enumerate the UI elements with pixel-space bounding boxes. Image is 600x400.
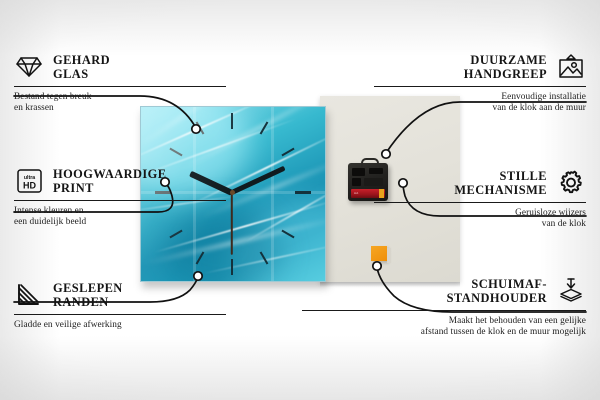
feature-title-line2: RANDEN: [53, 295, 109, 309]
foam-spacer: [371, 246, 387, 261]
feature-hoogwaardige-print[interactable]: ultra HD HOOGWAARDIGEPRINT Intense kleur…: [14, 166, 226, 229]
feature-gehard-glas[interactable]: GEHARDGLAS Bestand tegen breuk en krasse…: [14, 52, 226, 115]
feature-title-line1: GEHARD: [53, 53, 110, 67]
feature-title-line2: GLAS: [53, 67, 89, 81]
ultra-hd-icon: ultra HD: [14, 166, 44, 196]
feature-title-line1: STILLE: [500, 169, 547, 183]
feature-title-line1: HOOGWAARDIGE: [53, 167, 166, 181]
infographic-canvas: AA: [0, 0, 600, 400]
mechanism-detail: [352, 178, 361, 186]
diamond-icon: [14, 52, 44, 82]
clock-tick: [231, 113, 233, 129]
feature-stille-mechanisme[interactable]: STILLEMECHANISME Geruisloze wijzers van …: [374, 168, 586, 231]
feature-desc-line1: Geruisloze wijzers: [515, 208, 586, 218]
feature-desc-line1: Gladde en veilige afwerking: [14, 320, 122, 330]
feature-desc-line2: en krassen: [14, 103, 54, 113]
feature-desc-line2: afstand tussen de klok en de muur mogeli…: [421, 327, 586, 337]
foam-spacer-icon: [556, 276, 586, 306]
feature-desc-line2: van de klok aan de muur: [493, 103, 587, 113]
feature-title-line1: DUURZAME: [470, 53, 547, 67]
svg-text:HD: HD: [23, 181, 36, 191]
clock-second-hand: [231, 193, 233, 255]
clock-tick: [231, 259, 233, 275]
beveled-edges-icon: [14, 280, 44, 310]
feature-divider: [14, 200, 226, 201]
clock-center-cap: [230, 190, 235, 195]
feature-desc-line1: Bestand tegen breuk: [14, 92, 91, 102]
feature-duurzame-handgreep[interactable]: DUURZAMEHANDGREEP Eenvoudige installatie…: [374, 52, 586, 115]
feature-title-line2: STANDHOUDER: [447, 291, 547, 305]
feature-desc-line2: een duidelijk beeld: [14, 217, 86, 227]
picture-frame-hanger-icon: [556, 52, 586, 82]
feature-desc-line2: van de klok: [542, 219, 586, 229]
feature-divider: [14, 314, 226, 315]
feature-desc-line1: Maakt het behouden van een gelijke: [449, 316, 586, 326]
feature-divider: [374, 202, 586, 203]
feature-geslepen-randen[interactable]: GESLEPENRANDEN Gladde en veilige afwerki…: [14, 280, 226, 331]
feature-title-line1: GESLEPEN: [53, 281, 123, 295]
battery-label: AA: [354, 191, 359, 195]
feature-desc-line1: Intense kleuren en: [14, 206, 84, 216]
feature-title-line1: SCHUIMAF-: [471, 277, 547, 291]
feature-divider: [302, 310, 586, 311]
feature-schuimafstandhouder[interactable]: SCHUIMAF-STANDHOUDER Maakt het behouden …: [302, 276, 586, 339]
feature-title-line2: HANDGREEP: [464, 67, 547, 81]
feature-desc-line1: Eenvoudige installatie: [501, 92, 586, 102]
artwork-gridline: [271, 107, 274, 281]
feature-divider: [374, 86, 586, 87]
feature-title-line2: PRINT: [53, 181, 94, 195]
feature-title-line2: MECHANISME: [454, 183, 547, 197]
gear-icon: [556, 168, 586, 198]
mechanism-detail: [352, 168, 365, 176]
clock-tick: [295, 191, 311, 194]
feature-divider: [14, 86, 226, 87]
